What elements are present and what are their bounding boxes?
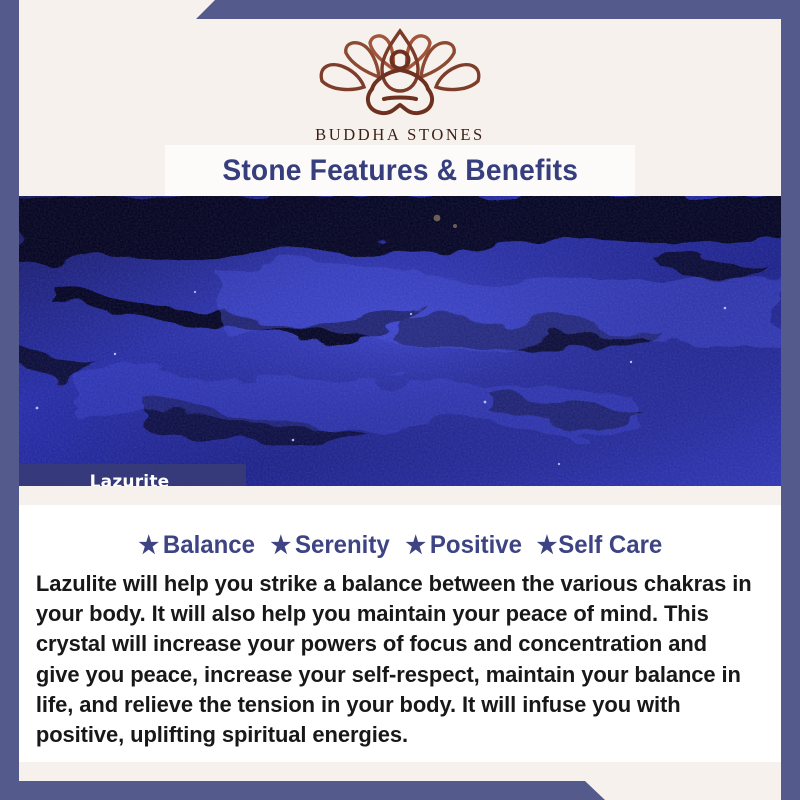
page-title: Stone Features & Benefits	[222, 154, 578, 188]
stone-name-tag: Lazurite	[19, 464, 246, 486]
stone-description: Lazulite will help you strike a balance …	[31, 569, 758, 750]
stone-benefits-poster: BUDDHA STONES Stone Features & Benefits	[0, 0, 800, 800]
benefit-item-self-care: ★ Self Care	[536, 531, 662, 560]
title-panel: Stone Features & Benefits	[165, 145, 635, 196]
brand-name: BUDDHA STONES	[315, 125, 485, 145]
frame-band-left	[0, 0, 19, 800]
benefit-label: Serenity	[295, 531, 390, 560]
benefit-label: Balance	[162, 531, 254, 560]
photo-divider	[19, 486, 781, 505]
benefit-label: Positive	[430, 531, 522, 560]
lazurite-stone-photo: Lazurite	[19, 196, 781, 486]
star-icon: ★	[406, 534, 427, 558]
frame-band-right	[781, 0, 800, 800]
poster-page: BUDDHA STONES Stone Features & Benefits	[19, 19, 781, 781]
benefit-item-positive: ★ Positive	[406, 531, 523, 560]
card-bottom-strip	[19, 762, 781, 781]
brand-header: BUDDHA STONES	[19, 19, 781, 145]
star-icon: ★	[270, 534, 291, 558]
star-icon: ★	[138, 534, 159, 558]
benefits-card: ★ Balance ★ Serenity ★ Positive ★ Self C…	[19, 505, 781, 762]
lotus-meditation-icon	[300, 27, 500, 124]
frame-band-top	[0, 0, 800, 19]
frame-band-bottom	[0, 781, 800, 800]
benefit-label: Self Care	[558, 531, 662, 560]
star-icon: ★	[536, 534, 557, 558]
stone-name-label: Lazurite	[90, 472, 170, 487]
benefit-item-balance: ★ Balance	[138, 531, 255, 560]
benefits-keyword-row: ★ Balance ★ Serenity ★ Positive ★ Self C…	[31, 531, 769, 560]
benefit-item-serenity: ★ Serenity	[270, 531, 389, 560]
